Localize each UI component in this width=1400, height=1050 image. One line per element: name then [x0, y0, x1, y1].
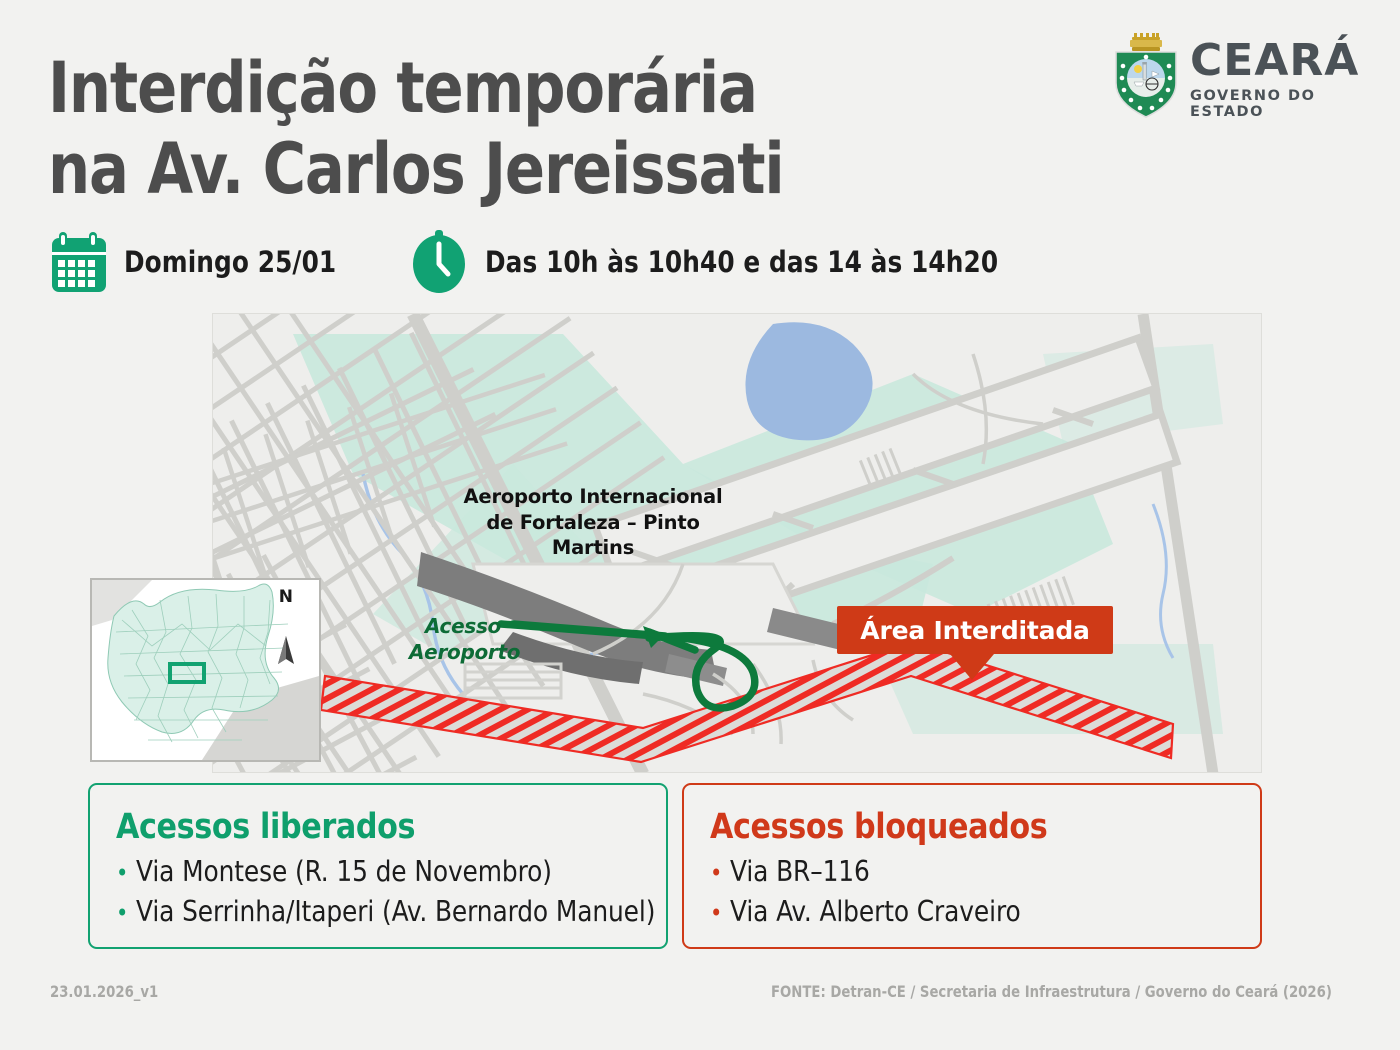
government-logo: CEARÁ GOVERNO DO ESTADO	[1110, 33, 1358, 121]
bullet-icon: •	[116, 859, 128, 887]
map-panel[interactable]: Aeroporto Internacional de Fortaleza – P…	[212, 313, 1262, 773]
airport-access-label-line-1: Acesso	[425, 614, 501, 638]
interdicted-area-badge-label: Área Interditada	[860, 616, 1089, 645]
airport-label-line-1: Aeroporto Internacional	[464, 485, 723, 508]
calendar-icon	[48, 230, 110, 294]
event-date: Domingo 25/01	[48, 230, 347, 294]
footer: 23.01.2026_v1 FONTE: Detran-CE / Secreta…	[0, 982, 1400, 1016]
airport-label: Aeroporto Internacional de Fortaleza – P…	[443, 484, 743, 561]
airport-access-label-line-2: Aeroporto	[409, 640, 520, 664]
legend-open-title: Acessos liberados	[116, 807, 619, 847]
legend-open-item-2: •Via Serrinha/Itaperi (Av. Bernardo Manu…	[116, 892, 624, 932]
locator-inset-map[interactable]: N	[90, 578, 321, 762]
header: Interdição temporária na Av. Carlos Jere…	[0, 0, 1400, 300]
bullet-icon: •	[116, 899, 128, 927]
page-title-line-2: na Av. Carlos Jereissati	[48, 129, 969, 210]
legend-open-item-2-label: Via Serrinha/Itaperi (Av. Bernardo Manue…	[136, 895, 655, 928]
legend-blocked-item-1-label: Via BR–116	[730, 855, 870, 888]
interdicted-area-badge-pointer	[950, 654, 994, 680]
airport-label-line-2: de Fortaleza – Pinto Martins	[486, 511, 699, 560]
ceara-coat-of-arms-shield-icon	[1110, 33, 1182, 119]
logo-title: CEARÁ	[1190, 39, 1360, 83]
legend-blocked-title: Acessos bloqueados	[710, 807, 1213, 847]
north-label: N	[279, 587, 293, 607]
logo-subtitle: GOVERNO DO ESTADO	[1190, 88, 1360, 120]
interdicted-area-badge: Área Interditada	[837, 606, 1113, 654]
event-meta-row: Domingo 25/01 Das 10h às 10h40 e das 14 …	[48, 226, 1026, 298]
event-time-label: Das 10h às 10h40 e das 14 às 14h20	[485, 245, 998, 279]
legend-open-item-1: •Via Montese (R. 15 de Novembro)	[116, 852, 624, 892]
event-date-label: Domingo 25/01	[124, 245, 336, 279]
legend-open-accesses: Acessos liberados •Via Montese (R. 15 de…	[88, 783, 668, 949]
clock-icon	[409, 230, 469, 294]
footer-source: FONTE: Detran-CE / Secretaria de Infraes…	[771, 982, 1332, 1001]
logo-wordmark: CEARÁ GOVERNO DO ESTADO	[1190, 39, 1360, 120]
bullet-icon: •	[710, 859, 722, 887]
legend-blocked-accesses: Acessos bloqueados •Via BR–116 •Via Av. …	[682, 783, 1262, 949]
event-time: Das 10h às 10h40 e das 14 às 14h20	[409, 230, 1025, 294]
legend-blocked-item-1: •Via BR–116	[710, 852, 1218, 892]
page-title-line-1: Interdição temporária	[48, 48, 969, 129]
bullet-icon: •	[710, 899, 722, 927]
airport-access-label: Acesso Aeroporto	[409, 614, 501, 665]
legend-open-item-1-label: Via Montese (R. 15 de Novembro)	[136, 855, 552, 888]
footer-version: 23.01.2026_v1	[50, 982, 158, 1001]
page-title: Interdição temporária na Av. Carlos Jere…	[48, 48, 969, 210]
locator-inset-canvas	[92, 580, 319, 760]
legend-blocked-item-2-label: Via Av. Alberto Craveiro	[730, 895, 1021, 928]
legend-blocked-item-2: •Via Av. Alberto Craveiro	[710, 892, 1218, 932]
